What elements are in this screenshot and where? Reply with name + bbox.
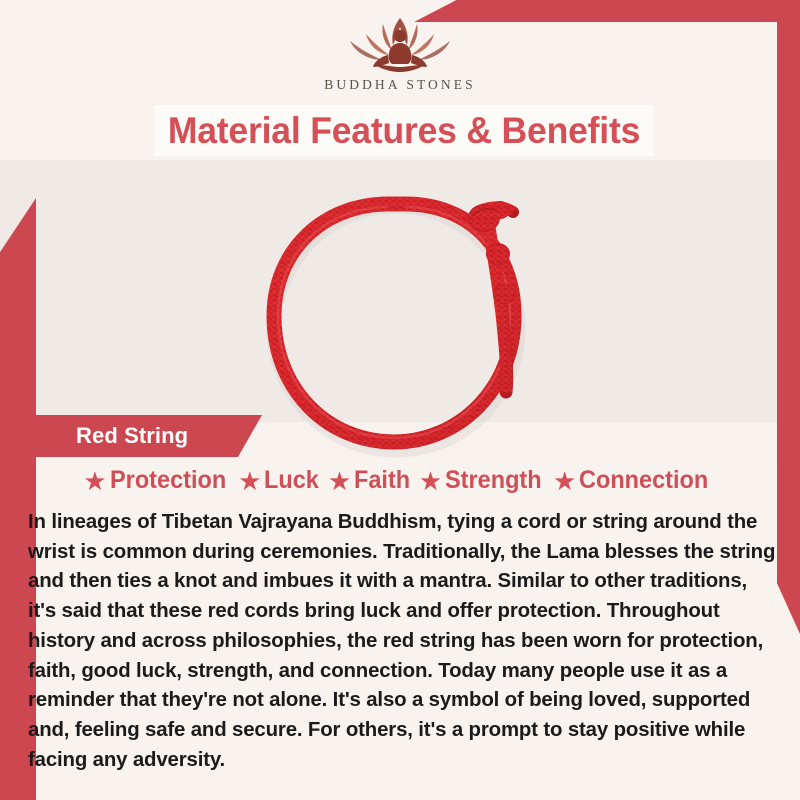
page-title: Material Features & Benefits (168, 110, 640, 152)
title-plate: Material Features & Benefits (154, 105, 654, 156)
product-name: Red String (76, 423, 188, 449)
benefit-item-protection: ★ Protection (83, 466, 233, 495)
product-name-ribbon: Red String (22, 415, 262, 457)
brand-wordmark: BUDDHA STONES (324, 77, 475, 93)
red-string-bracelet-illustration (236, 176, 566, 466)
infographic-page: BUDDHA STONES Material Features & Benefi… (0, 0, 800, 800)
benefit-label: Protection (110, 466, 226, 495)
benefit-item-strength: ★ Strength (419, 466, 548, 495)
benefit-item-luck: ★ Luck (238, 466, 323, 495)
star-icon: ★ (83, 468, 106, 494)
brand-logo: BUDDHA STONES (0, 14, 800, 104)
star-icon: ★ (238, 468, 261, 494)
benefit-label: Luck (264, 466, 319, 495)
product-photo (236, 176, 566, 466)
benefit-item-faith: ★ Faith (328, 466, 414, 495)
description-paragraph: In lineages of Tibetan Vajrayana Buddhis… (28, 508, 776, 775)
star-icon: ★ (419, 468, 442, 494)
benefits-row: ★ Protection ★ Luck ★ Faith ★ Strength ★… (0, 466, 800, 495)
benefit-label: Strength (445, 466, 542, 495)
benefit-item-connection: ★ Connection (553, 466, 717, 495)
star-icon: ★ (328, 468, 351, 494)
lotus-meditation-icon (336, 14, 464, 76)
benefit-label: Faith (354, 466, 410, 495)
star-icon: ★ (553, 468, 576, 494)
benefit-label: Connection (579, 466, 708, 495)
